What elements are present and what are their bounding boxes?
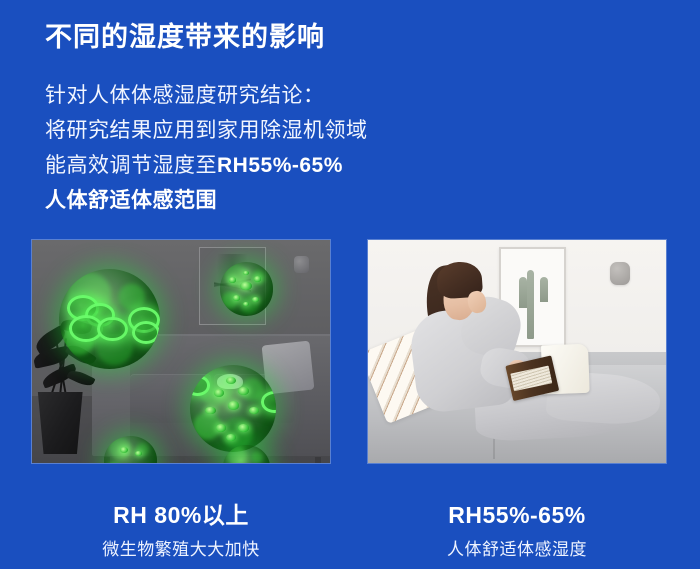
bright-room-scene — [368, 240, 666, 463]
caption-high-humidity: RH 80%以上 微生物繁殖大大加快 — [32, 500, 330, 560]
microbe-sphere-edge — [223, 445, 271, 463]
plant-leaf — [66, 367, 95, 389]
infographic-slide: 不同的湿度带来的影响 针对人体体感湿度研究结论： 将研究结果应用到家用除湿机领域… — [0, 0, 700, 569]
caption-subtitle: 人体舒适体感湿度 — [368, 535, 666, 560]
microbe-nub — [252, 297, 259, 302]
microbe-texture — [104, 436, 158, 463]
microbe-cluster-large — [59, 269, 160, 369]
microbe-ring — [97, 317, 127, 341]
intro-line-4: 人体舒适体感范围 — [45, 183, 368, 218]
microbe-texture — [223, 445, 271, 463]
microbe-nub — [233, 295, 240, 300]
microbe-nub — [229, 277, 236, 282]
photo-comfort-humidity — [368, 240, 666, 463]
caption-comfort-humidity: RH55%-65% 人体舒适体感湿度 — [368, 500, 666, 560]
microbe-sphere-lower — [190, 365, 276, 452]
caption-subtitle: 微生物繁殖大大加快 — [32, 535, 330, 560]
microbe-nub — [238, 424, 248, 432]
microbe-nub — [254, 276, 261, 281]
intro-line-3-emphasis: RH55%-65% — [217, 154, 343, 177]
microbe-ring — [132, 321, 160, 344]
microbe-nub — [226, 377, 236, 384]
thermostat-icon — [294, 256, 309, 273]
sofa-leg — [315, 457, 321, 463]
microbe-nub — [240, 282, 252, 291]
intro-line-3-prefix: 能高效调节湿度至 — [45, 154, 217, 177]
intro-line-3: 能高效调节湿度至RH55%-65% — [45, 148, 368, 183]
intro-line-1: 针对人体体感湿度研究结论： — [45, 78, 368, 113]
page-title: 不同的湿度带来的影响 — [45, 18, 325, 56]
dark-room-scene — [32, 240, 330, 463]
photo-high-humidity — [32, 240, 330, 463]
microbe-sphere-edge — [104, 436, 158, 463]
microbe-sphere-small — [220, 262, 274, 316]
microbe-nub — [216, 424, 226, 432]
open-book — [505, 342, 591, 402]
intro-line-2: 将研究结果应用到家用除湿机领域 — [45, 113, 368, 148]
caption-title: RH 80%以上 — [32, 500, 330, 530]
intro-paragraph: 针对人体体感湿度研究结论： 将研究结果应用到家用除湿机领域 能高效调节湿度至RH… — [45, 78, 368, 218]
caption-title: RH55%-65% — [368, 500, 666, 530]
